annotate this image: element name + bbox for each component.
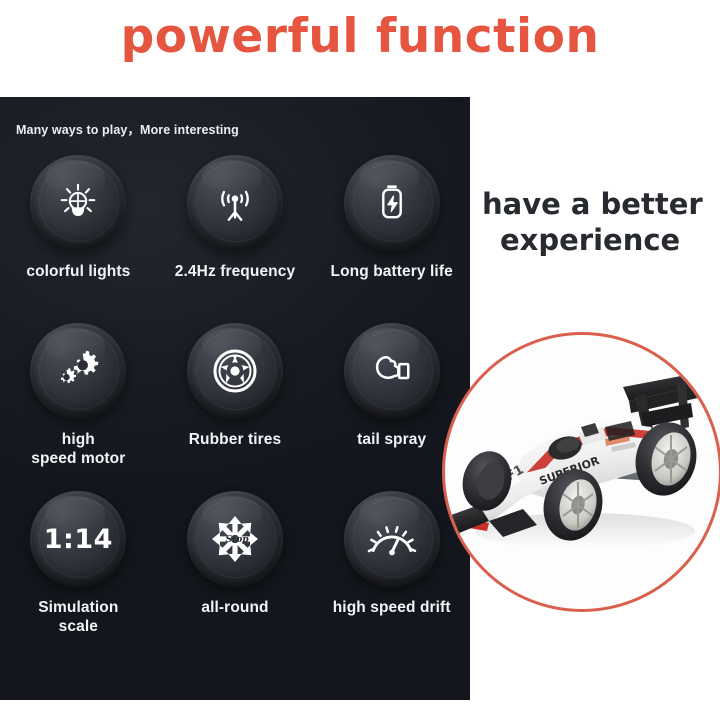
signal-wave-icon [212,180,258,226]
feature-label: Long battery life [331,263,453,282]
scale-ratio-icon: 1:14 [44,524,113,555]
icon-disc [30,155,126,251]
feature-grid: colorful lights 2.4Hz frequency [0,155,470,659]
rc-car-image: SUPERIOR F1 [445,335,719,609]
feature-item-motor[interactable]: high speed motor [0,323,157,491]
tire-wheel-icon [211,347,259,395]
feature-item-battery[interactable]: Long battery life [313,155,470,323]
feature-label: Simulation scale [38,599,118,637]
feature-label: 2.4Hz frequency [175,263,295,282]
feature-item-tires[interactable]: Rubber tires [157,323,314,491]
icon-disc [344,155,440,251]
feature-item-scale[interactable]: 1:14 Simulation scale [0,491,157,659]
feature-item-colorful-lights[interactable]: colorful lights [0,155,157,323]
gears-icon [53,348,103,394]
feature-label: high speed drift [333,599,451,618]
icon-disc [344,323,440,419]
feature-label: Rubber tires [189,431,282,450]
headline: have a better experience [482,152,720,294]
feature-item-frequency[interactable]: 2.4Hz frequency [157,155,314,323]
battery-icon [370,181,414,225]
feature-label: high speed motor [31,431,125,469]
light-bulb-icon [55,180,101,226]
feature-label: tail spray [357,431,426,450]
svg-text:Stop: Stop [226,535,250,545]
product-photo-circle: SUPERIOR F1 [442,332,720,612]
panel-subtitle: Many ways to play，More interesting [16,119,239,138]
page-title: powerful function [0,10,720,64]
feature-panel: Many ways to play，More interesting color… [0,97,470,700]
exhaust-spray-icon [367,349,417,393]
feature-item-all-round[interactable]: Stop all-round [157,491,314,659]
headline-line-1: have a better [482,187,703,221]
multi-arrow-icon: Stop [209,513,261,565]
icon-disc [30,323,126,419]
headline-line-2: experience [482,223,720,258]
icon-disc [344,491,440,587]
speedometer-icon [366,518,418,560]
icon-disc: Stop [187,491,283,587]
icon-disc [187,155,283,251]
feature-label: all-round [201,599,268,618]
icon-disc: 1:14 [30,491,126,587]
icon-disc [187,323,283,419]
feature-label: colorful lights [26,263,130,282]
